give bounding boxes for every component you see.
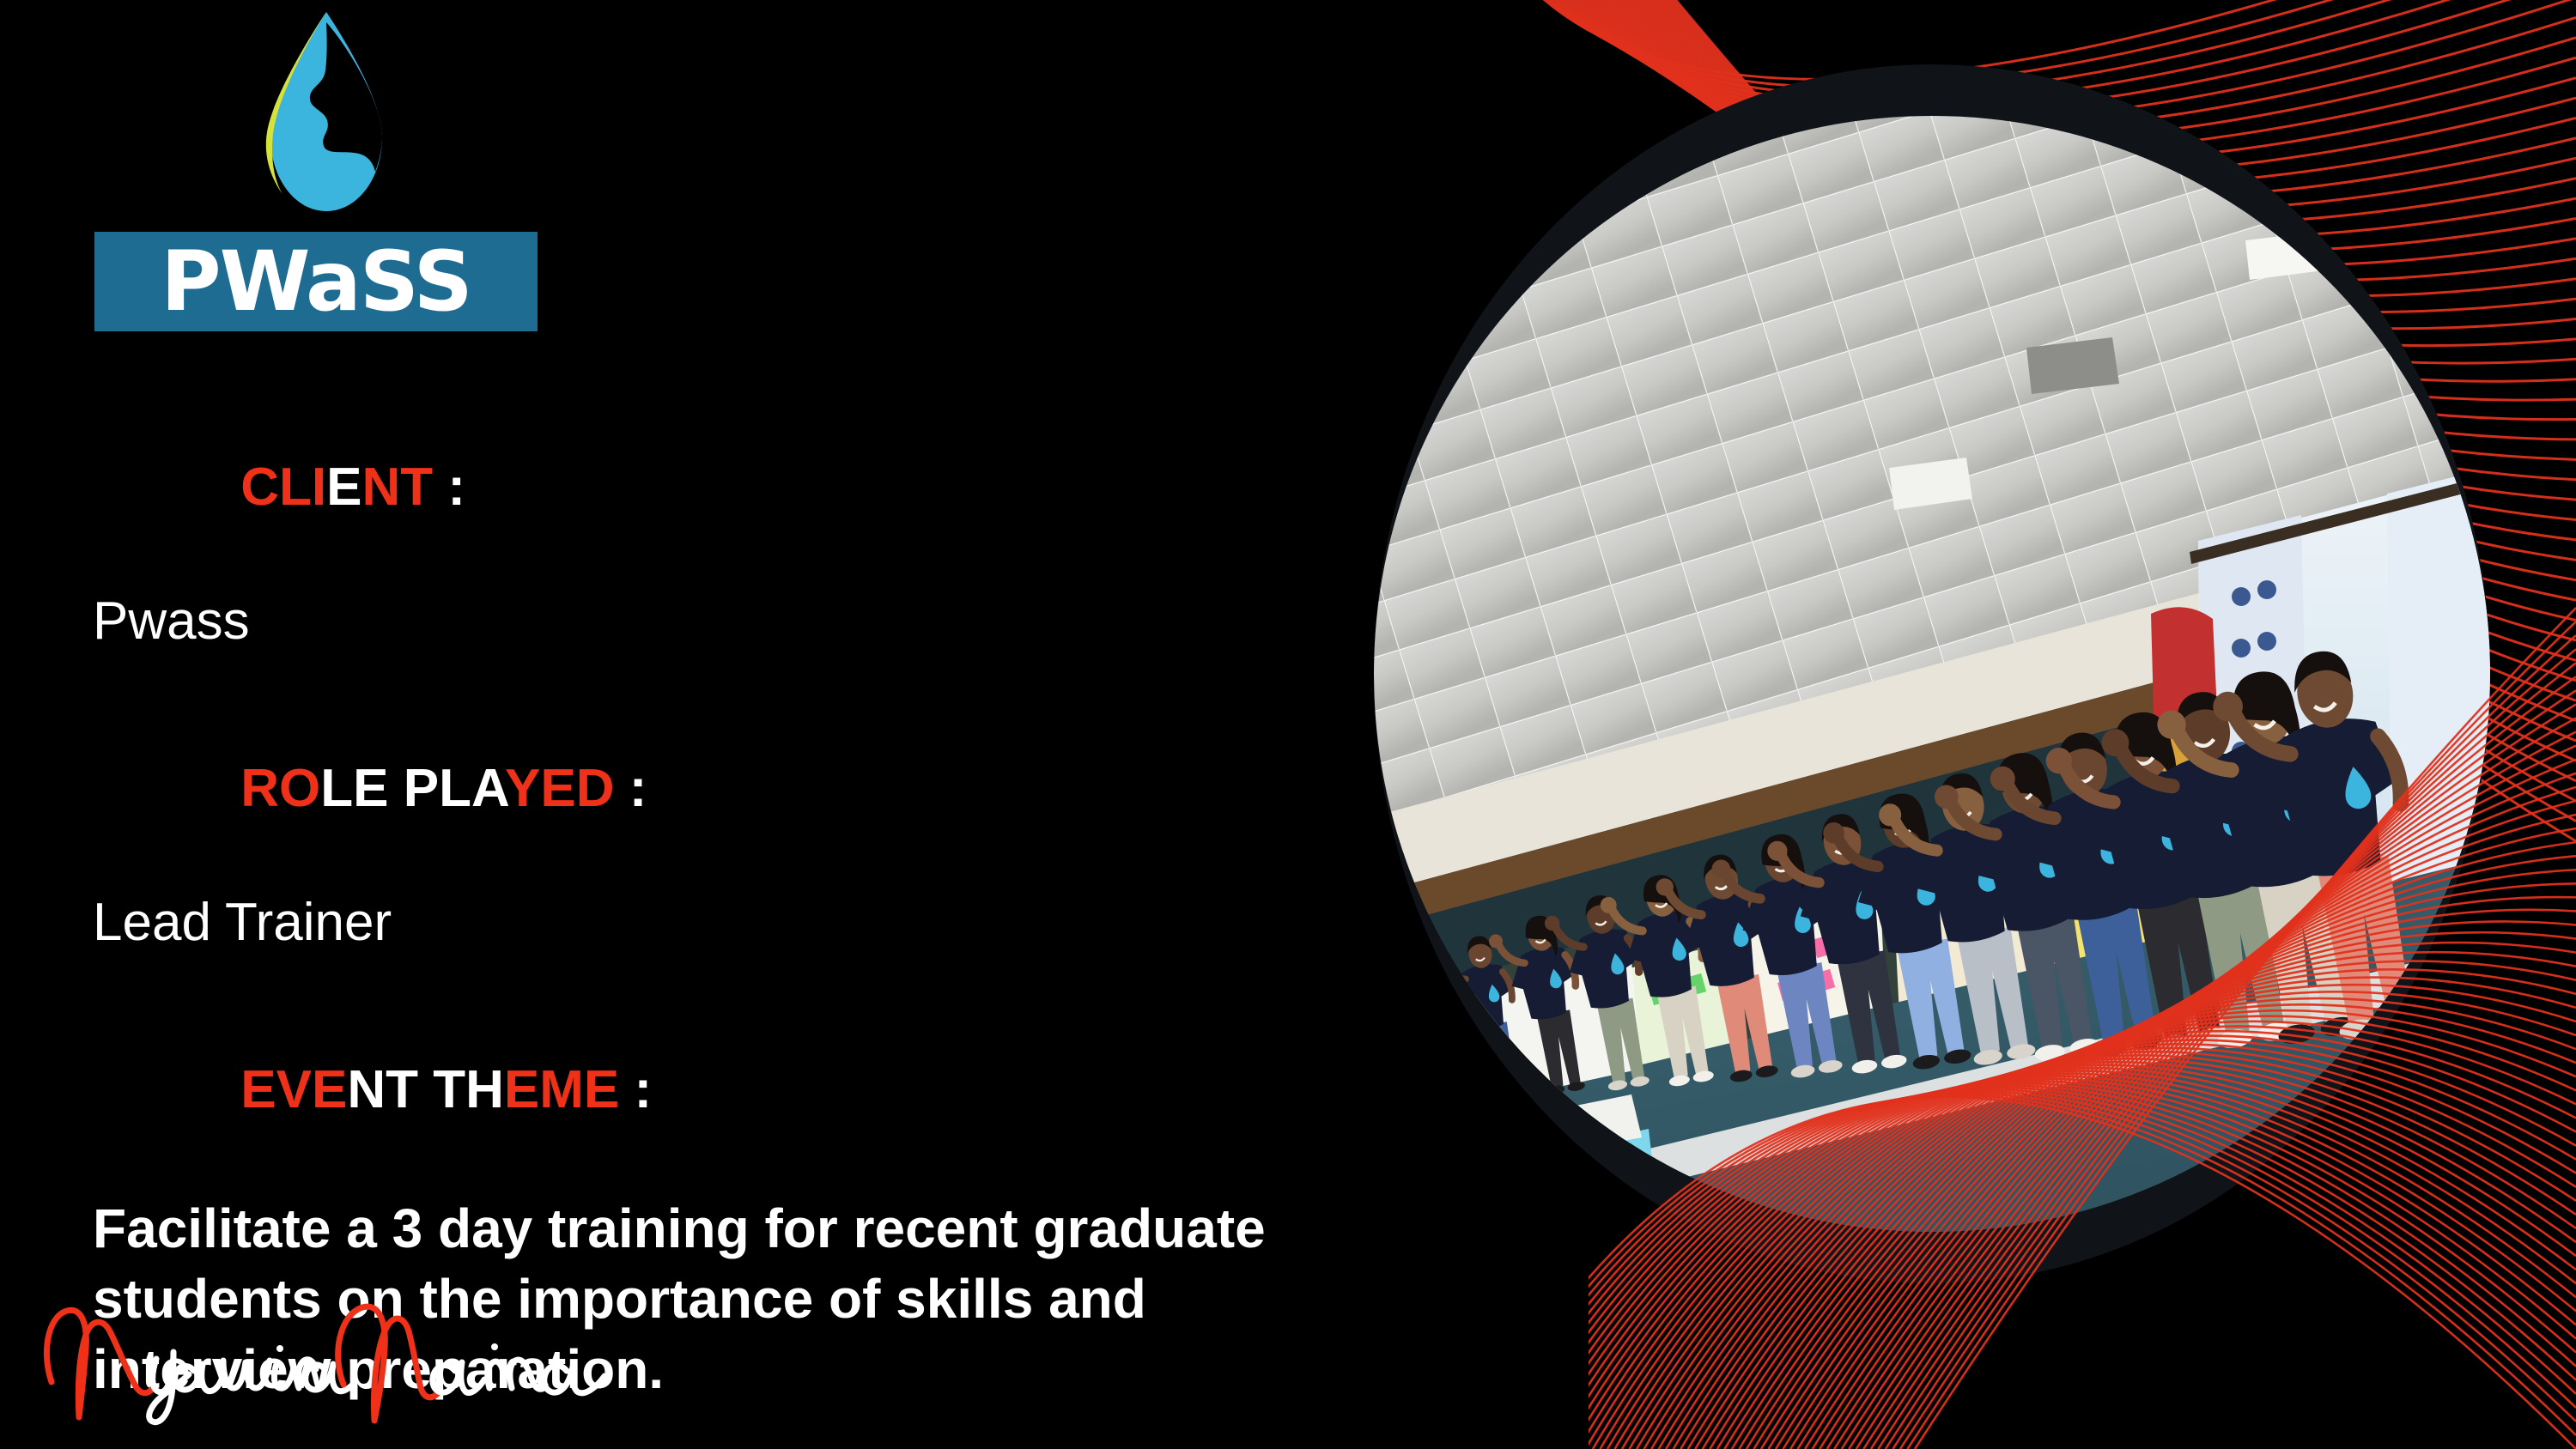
field-label-client: CLIENT : (93, 403, 1321, 571)
label-seg: RO (240, 759, 320, 818)
field-label-event-theme: EVENT THEME : (93, 1005, 1321, 1173)
label-seg: E (326, 458, 361, 517)
brand-name: PWaSS (161, 240, 471, 323)
photo-illustration (1374, 64, 2490, 1283)
label-seg: YED (505, 759, 614, 818)
signature-script (26, 1292, 678, 1429)
brand-logo: PWaSS (94, 7, 558, 331)
label-seg: : (433, 458, 465, 517)
label-seg: : (615, 759, 647, 818)
presentation-slide: PWaSS CLIENT : Pwass ROLE PLAYED : Lead … (0, 0, 2576, 1449)
label-seg: LE PLA (320, 759, 505, 818)
field-label-role-played: ROLE PLAYED : (93, 705, 1321, 872)
content-column: PWaSS CLIENT : Pwass ROLE PLAYED : Lead … (0, 0, 1340, 1449)
field-client: CLIENT : Pwass (93, 403, 1321, 652)
label-seg: NT TH (347, 1060, 504, 1119)
label-seg: : (619, 1060, 652, 1119)
brand-badge: PWaSS (94, 232, 538, 331)
field-value-client: Pwass (93, 591, 1321, 651)
water-drop-icon (245, 7, 408, 221)
signature (26, 1292, 678, 1429)
label-seg: EME (504, 1060, 619, 1119)
event-photo (1374, 64, 2490, 1326)
label-seg: NT (362, 458, 434, 517)
field-list: CLIENT : Pwass ROLE PLAYED : Lead Traine… (93, 403, 1321, 1404)
label-seg: CLI (240, 458, 326, 517)
photo-circle-mask (1374, 64, 2490, 1283)
field-value-role-played: Lead Trainer (93, 893, 1321, 952)
field-role-played: ROLE PLAYED : Lead Trainer (93, 705, 1321, 953)
label-seg: EVE (240, 1060, 347, 1119)
